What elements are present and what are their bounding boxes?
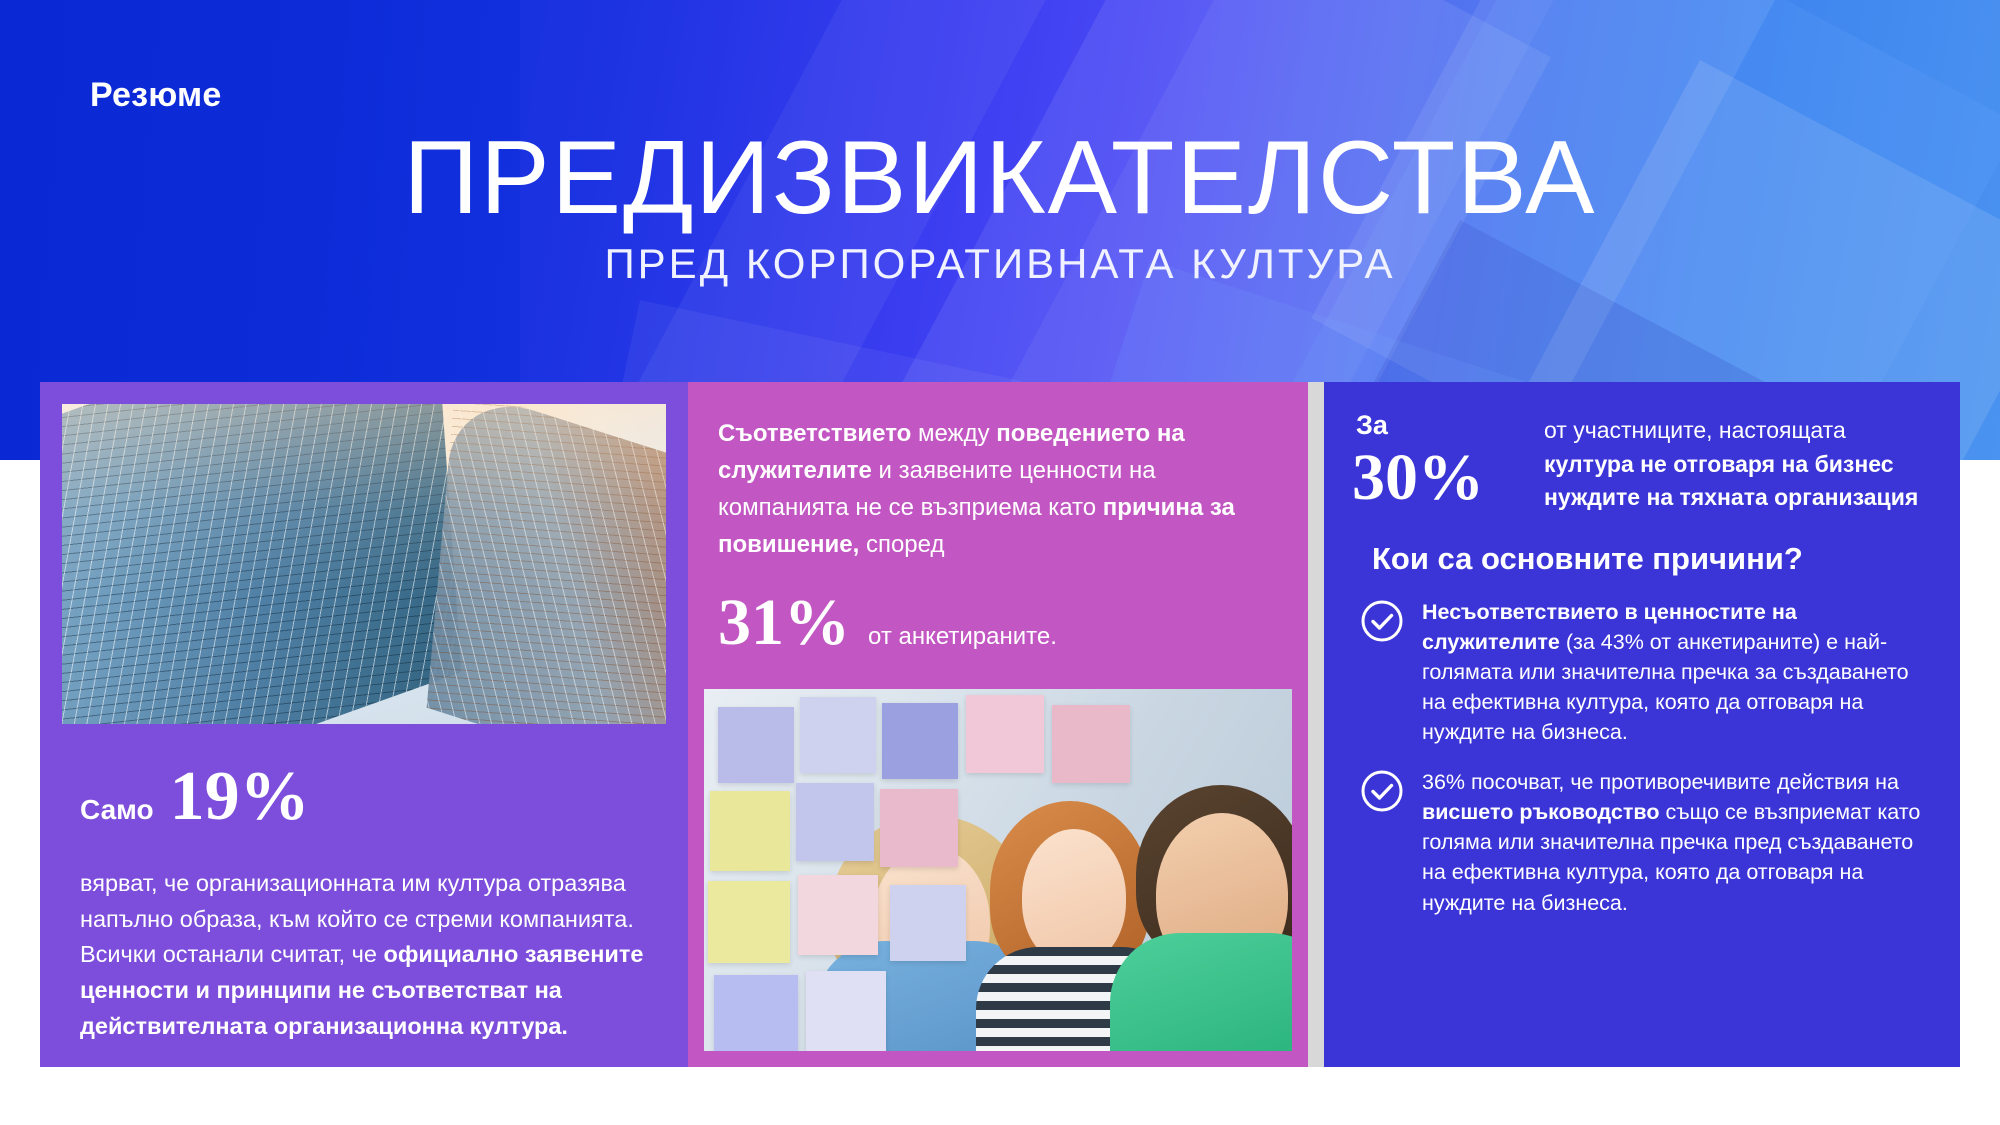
- right-lead-stat: За 30% от участниците, настоящата култур…: [1352, 410, 1932, 515]
- sticky-note-9: [708, 881, 790, 963]
- bullet-text-2: 36% посочват, че противоречивите действи…: [1422, 767, 1932, 917]
- left-stat-value: 19%: [170, 762, 310, 832]
- bullet-2-bold: висшето ръководство: [1422, 800, 1659, 824]
- card-middle: Съответствието между поведението на служ…: [688, 382, 1308, 1067]
- person-middle-face: [1022, 829, 1126, 965]
- list-item: 36% посочват, че противоречивите действи…: [1352, 767, 1932, 917]
- right-question-heading: Кои са основните причини?: [1352, 541, 1932, 577]
- middle-body-plain-3: според: [859, 531, 944, 558]
- sticky-note-2: [800, 697, 876, 773]
- card-separator-2: [1308, 382, 1324, 1067]
- right-lead-block: За 30%: [1352, 410, 1522, 512]
- sticky-note-11: [714, 975, 798, 1051]
- right-bullet-list: Несъответствието в ценностите на служите…: [1352, 597, 1932, 918]
- middle-stat: 31% от анкетираните.: [718, 590, 1278, 656]
- middle-body-bold-1: Съответствието: [718, 420, 911, 447]
- sticky-note-13: [890, 885, 966, 961]
- middle-card-body: Съответствието между поведението на служ…: [718, 416, 1278, 564]
- right-lead-bold: култура не отговаря на бизнес нуждите на…: [1544, 451, 1918, 511]
- list-item: Несъответствието в ценностите на служите…: [1352, 597, 1932, 747]
- right-lead-value: 30%: [1352, 443, 1522, 512]
- right-lead-text: от участниците, настоящата култура не от…: [1544, 410, 1932, 515]
- sticky-note-6: [880, 789, 958, 867]
- left-card-body: вярват, че организационната им култура о…: [62, 866, 666, 1045]
- check-circle-icon: [1360, 769, 1404, 813]
- middle-stat-value: 31%: [718, 590, 850, 656]
- team-photo: [704, 689, 1292, 1051]
- tower-right: [427, 404, 666, 724]
- bullet-text-1: Несъответствието в ценностите на служите…: [1422, 597, 1932, 747]
- sticky-note-8: [1052, 705, 1130, 783]
- tower-left: [62, 404, 461, 724]
- card-left: Само 19% вярват, че организационната им …: [40, 382, 688, 1067]
- bullet-2-pre: 36% посочват, че противоречивите действи…: [1422, 770, 1899, 794]
- right-lead-plain: от участниците, настоящата: [1544, 417, 1846, 443]
- middle-body-plain-1: между: [911, 420, 996, 447]
- sticky-note-10: [798, 875, 878, 955]
- sticky-note-4: [710, 791, 790, 871]
- sticky-note-12: [806, 971, 886, 1051]
- left-stat-prefix: Само: [80, 794, 154, 826]
- skyscrapers-photo: [62, 404, 666, 724]
- sticky-note-5: [796, 783, 874, 861]
- middle-stat-caption: от анкетираните.: [868, 623, 1057, 651]
- right-lead-prefix: За: [1352, 410, 1522, 441]
- cards-row: Само 19% вярват, че организационната им …: [0, 0, 2000, 1125]
- sticky-note-3: [882, 703, 958, 779]
- sticky-note-7: [966, 695, 1044, 773]
- card-right: За 30% от участниците, настоящата култур…: [1324, 382, 1960, 1067]
- check-circle-icon: [1360, 599, 1404, 643]
- sticky-note-1: [718, 707, 794, 783]
- body-right: [1110, 933, 1292, 1051]
- slide-canvas: Резюме ПРЕДИЗВИКАТЕЛСТВА ПРЕД КОРПОРАТИВ…: [0, 0, 2000, 1125]
- left-stat: Само 19%: [62, 762, 666, 832]
